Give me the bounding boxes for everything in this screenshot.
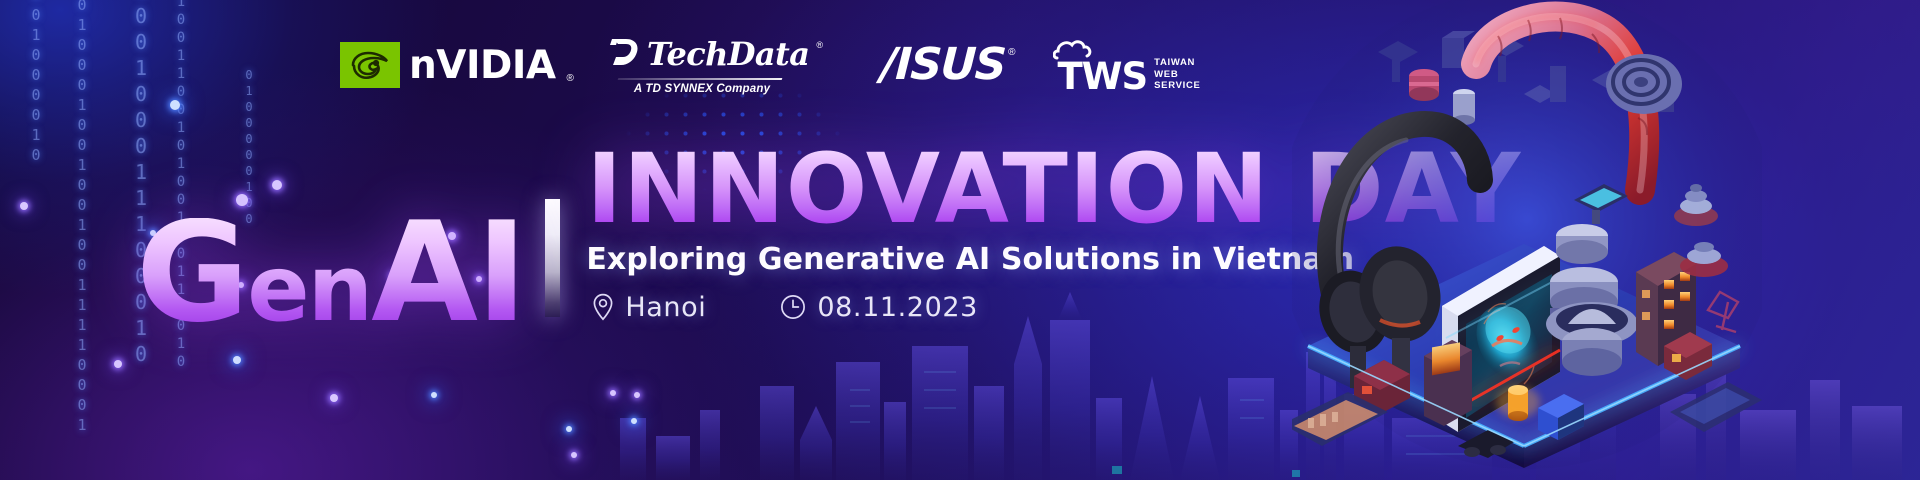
event-date: 08.11.2023 <box>780 292 978 323</box>
tws-sub-line-1: TAIWAN <box>1154 57 1200 69</box>
asus-registered-mark: ® <box>1008 47 1015 58</box>
logo-tech-data: TechData ® A TD SYNNEX Company <box>610 36 823 95</box>
tech-data-wordmark: TechData <box>647 38 809 70</box>
tech-data-tagline: A TD SYNNEX Company <box>634 83 770 95</box>
nvidia-wordmark: nVIDIA <box>409 46 556 85</box>
event-location: Hanoi <box>592 292 706 323</box>
event-banner: 1001000010011010001001001001111000111001… <box>0 0 1920 480</box>
clock-icon <box>780 294 806 320</box>
genai-ai: AI <box>371 192 525 353</box>
ai-isometric-illustration <box>1292 0 1762 472</box>
tech-data-monogram-icon <box>610 36 640 73</box>
logo-nvidia: nVIDIA ® <box>340 42 574 88</box>
event-location-label: Hanoi <box>625 292 706 323</box>
genai-en: en <box>247 235 371 342</box>
genai-g: G <box>136 192 247 353</box>
genai-logotype: GenAI <box>136 218 525 328</box>
event-date-label: 08.11.2023 <box>817 292 978 323</box>
binary-column-1: 1001000010 <box>28 0 43 166</box>
tws-sub-lines: TAIWAN WEB SERVICE <box>1154 57 1200 92</box>
sponsor-logo-row: nVIDIA ® TechData ® A TD SYNNEX Company … <box>340 37 1201 93</box>
tech-data-registered-mark: ® <box>816 40 823 50</box>
logo-asus: /ISUS ® <box>881 43 1015 87</box>
asus-wordmark: /ISUS <box>880 43 1006 87</box>
nvidia-registered-mark: ® <box>567 73 574 84</box>
nvidia-eye-logo-icon <box>340 42 400 88</box>
tws-sub-line-3: SERVICE <box>1154 80 1200 92</box>
glow-particle-1 <box>20 202 28 210</box>
tws-sub-line-2: WEB <box>1154 69 1200 81</box>
headline-divider <box>545 199 560 317</box>
logo-taiwan-web-service: TWS TAIWAN WEB SERVICE <box>1057 36 1200 94</box>
glow-particle-18 <box>170 100 180 110</box>
location-pin-icon <box>592 293 614 321</box>
tech-data-rule <box>618 78 783 80</box>
tws-wordmark: TWS <box>1057 59 1147 94</box>
